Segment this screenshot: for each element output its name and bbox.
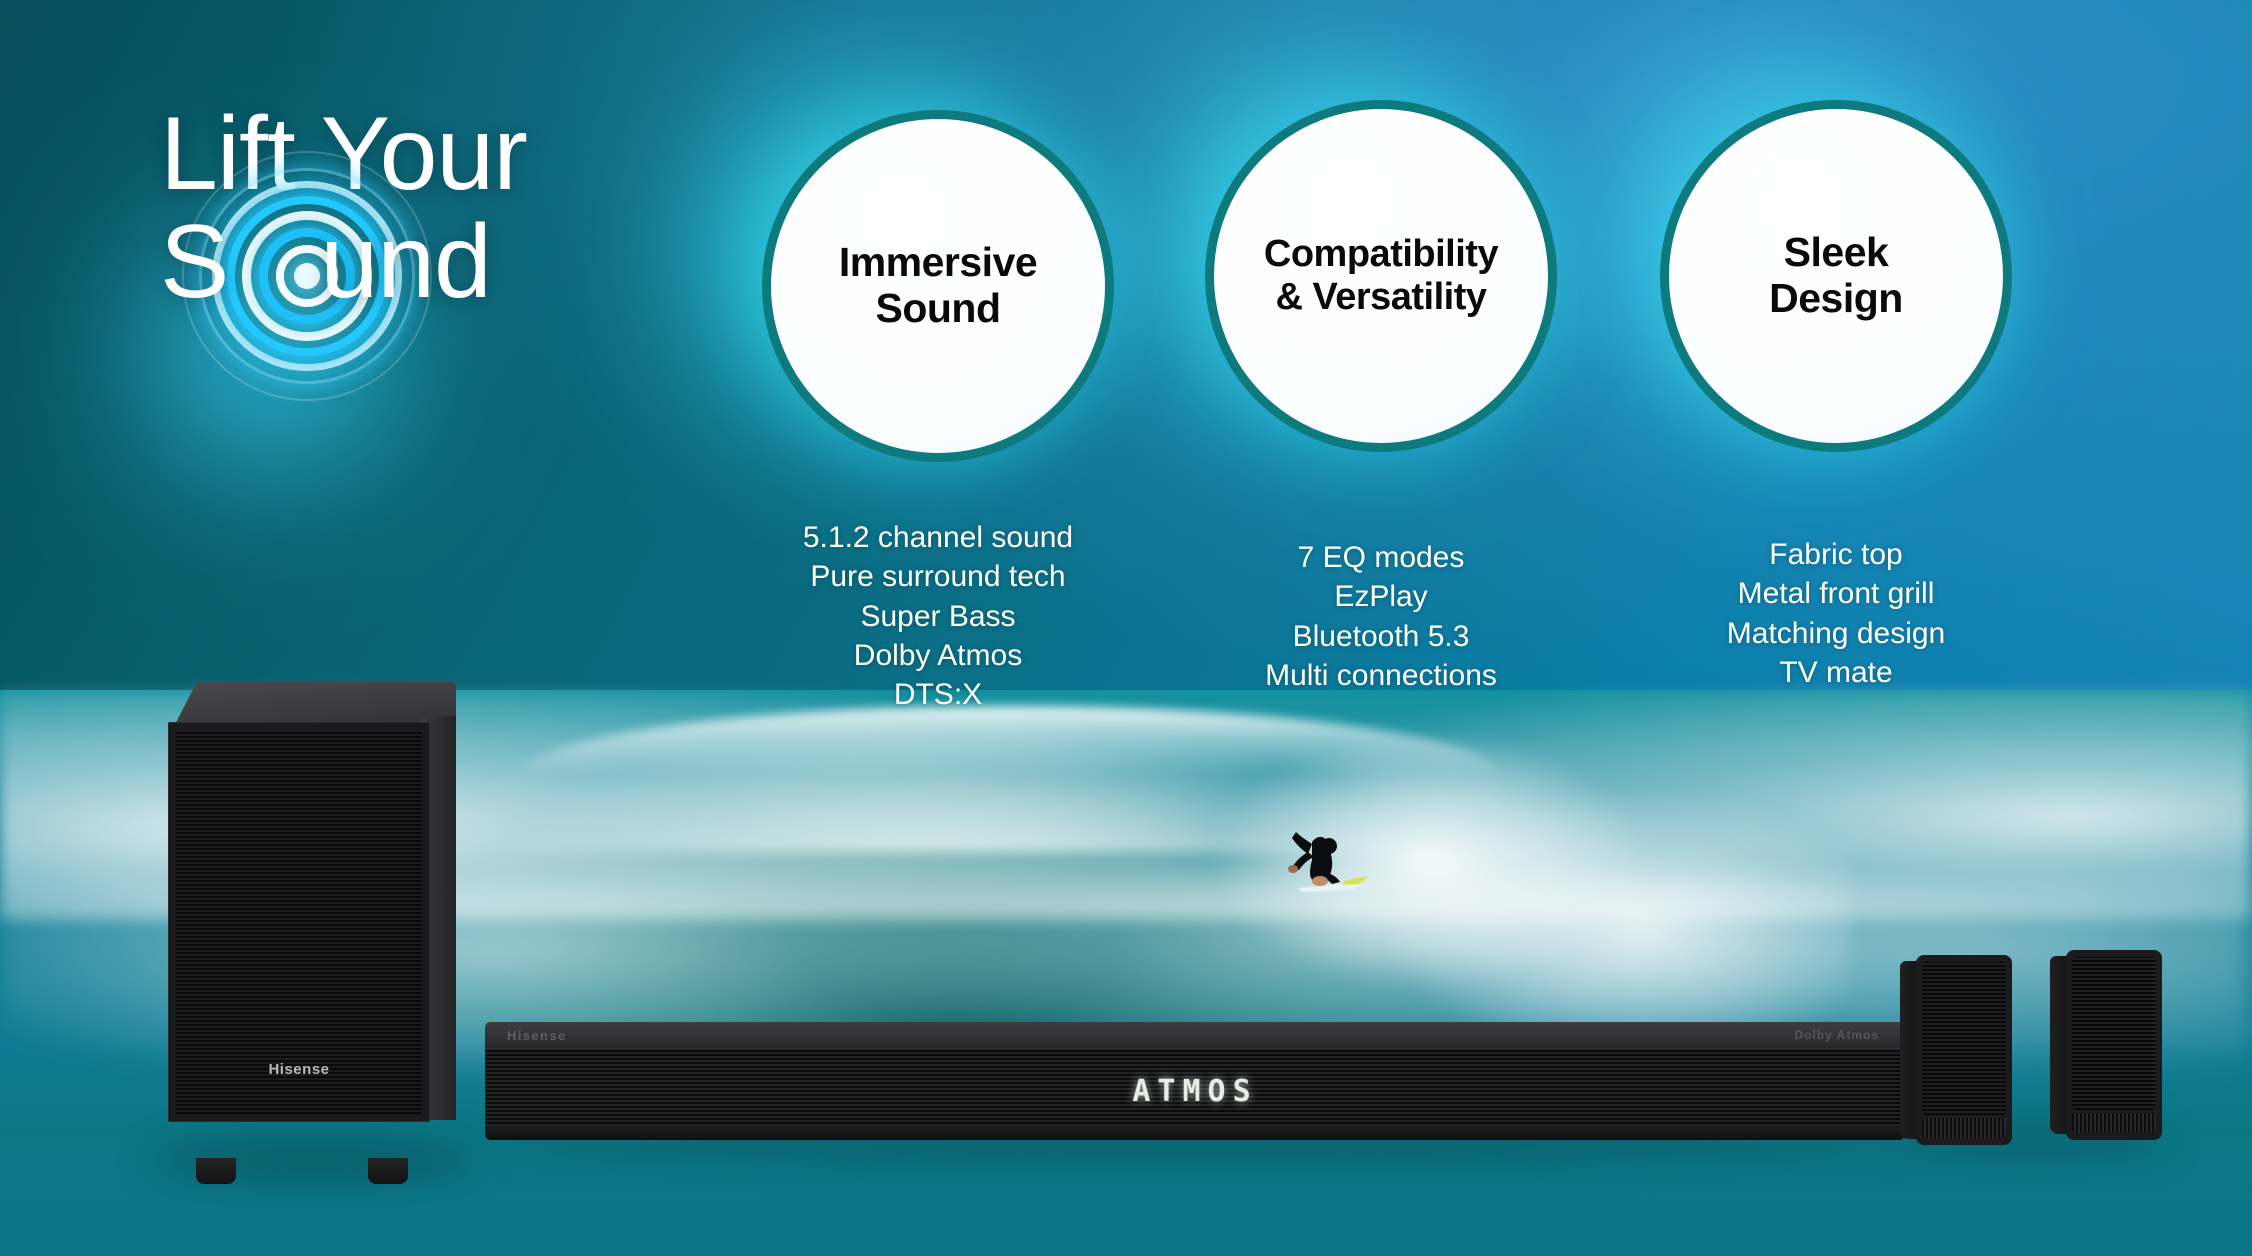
rear-speaker-vent	[1922, 1118, 2006, 1138]
soundbar-bottom-edge	[485, 1126, 1905, 1140]
soundbar-top-panel: Hisense Dolby Atmos	[485, 1022, 1905, 1050]
feature-bullets-compatibility-versatility: 7 EQ modes EzPlay Bluetooth 5.3 Multi co…	[1185, 538, 1577, 695]
feature-title-sleek-design: Sleek Design	[1755, 230, 1917, 322]
surfer-figure	[1268, 824, 1388, 894]
feature-title-immersive-sound: Immersive Sound	[825, 240, 1051, 332]
promo-banner: Lift Your Sund Immersive Sound 5.1.2 cha…	[0, 0, 2252, 1256]
feature-bullets-immersive-sound: 5.1.2 channel sound Pure surround tech S…	[738, 518, 1138, 714]
feature-bullets-sleek-design: Fabric top Metal front grill Matching de…	[1640, 535, 2032, 692]
subwoofer-foot-right	[368, 1158, 408, 1184]
headline-line-1: Lift Your	[160, 105, 720, 205]
bullet-item: Metal front grill	[1640, 574, 2032, 613]
feature-title-line: Sleek	[1769, 230, 1903, 276]
subwoofer-brand-logo: Hisense	[168, 1061, 430, 1078]
subwoofer-grill	[176, 730, 422, 1114]
bullet-item: EzPlay	[1185, 577, 1577, 616]
subwoofer-body: Hisense	[168, 722, 430, 1122]
headline: Lift Your Sund	[160, 105, 720, 313]
feature-title-line: Sound	[839, 286, 1037, 332]
rear-speaker-body	[1916, 955, 2012, 1145]
soundbar-brand-logo: Hisense	[507, 1028, 567, 1043]
feature-title-compatibility-versatility: Compatibility & Versatility	[1250, 233, 1512, 318]
bullet-item: Pure surround tech	[738, 557, 1138, 596]
bullet-item: Super Bass	[738, 597, 1138, 636]
headline-o-gap	[228, 269, 320, 270]
bullet-item: 5.1.2 channel sound	[738, 518, 1138, 557]
product-subwoofer: Hisense	[168, 682, 456, 1162]
headline-line-2-pre: S	[160, 204, 228, 320]
subwoofer-foot-left	[196, 1158, 236, 1184]
bullet-item: Dolby Atmos	[738, 636, 1138, 675]
feature-title-line: Design	[1769, 276, 1903, 322]
bullet-item: 7 EQ modes	[1185, 538, 1577, 577]
dolby-atmos-badge: Dolby Atmos	[1794, 1028, 1879, 1042]
soundbar-led-display: ATMOS	[1132, 1074, 1257, 1109]
feature-circle-compatibility-versatility: Compatibility & Versatility	[1205, 100, 1557, 452]
rear-speaker-vent	[2072, 1113, 2156, 1133]
bullet-item: Bluetooth 5.3	[1185, 617, 1577, 656]
product-rear-speaker-right	[2050, 950, 2162, 1140]
rear-speaker-grill	[1922, 962, 2006, 1115]
bullet-item: Multi connections	[1185, 656, 1577, 695]
feature-title-line: & Versatility	[1264, 276, 1498, 319]
headline-line-2: Sund	[160, 213, 720, 313]
bullet-item: TV mate	[1640, 653, 2032, 692]
product-rear-speaker-left	[1900, 955, 2012, 1145]
product-soundbar: Hisense Dolby Atmos ATMOS	[485, 1022, 1905, 1140]
feature-circle-sleek-design: Sleek Design	[1660, 100, 2012, 452]
rear-speaker-body	[2066, 950, 2162, 1140]
rear-speaker-grill	[2072, 957, 2156, 1110]
feature-circle-immersive-sound: Immersive Sound	[762, 110, 1114, 462]
bullet-item: DTS:X	[738, 675, 1138, 714]
feature-title-line: Immersive	[839, 240, 1037, 286]
headline-line-2-post: und	[320, 204, 491, 320]
feature-title-line: Compatibility	[1264, 233, 1498, 276]
bullet-item: Fabric top	[1640, 535, 2032, 574]
bullet-item: Matching design	[1640, 614, 2032, 653]
